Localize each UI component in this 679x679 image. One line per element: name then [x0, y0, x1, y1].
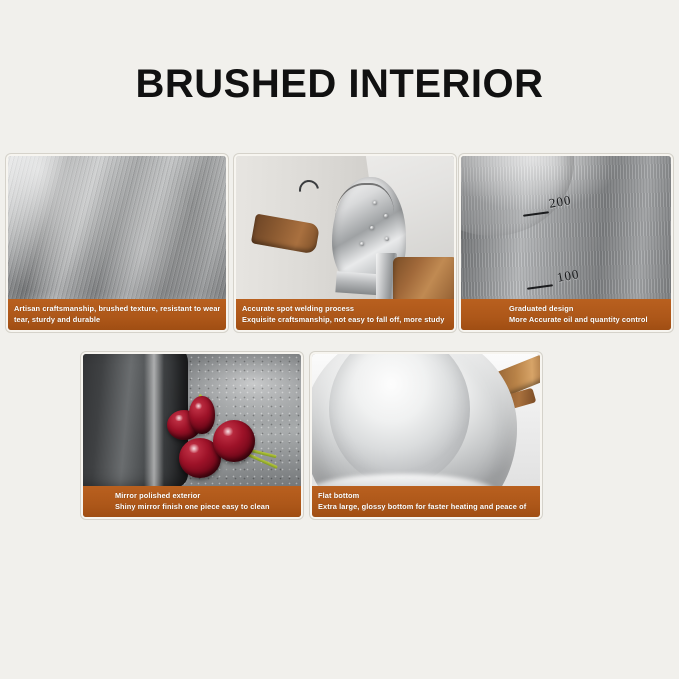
weld-dot: [384, 214, 388, 218]
panel-flat-bottom: Flat bottom Extra large, glossy bottom f…: [310, 352, 542, 519]
caption-line-1: Graduated design: [509, 303, 665, 314]
weld-dot: [360, 242, 364, 246]
caption-line-2: Exquisite craftsmanship, not easy to fal…: [242, 314, 448, 325]
caption-bar-4: Mirror polished exterior Shiny mirror fi…: [83, 486, 301, 517]
panel-spot-welding: Accurate spot welding process Exquisite …: [234, 154, 456, 332]
weld-dot: [385, 237, 389, 241]
caption-line-1: Mirror polished exterior: [115, 490, 295, 501]
panel-graduated-design: 200 100 Graduated design More Accurate o…: [459, 154, 673, 332]
caption-line-2: tear, sturdy and durable: [14, 314, 220, 325]
cherry: [189, 396, 215, 434]
caption-line-1: Accurate spot welding process: [242, 303, 448, 314]
caption-bar-1: Artisan craftsmanship, brushed texture, …: [8, 299, 226, 330]
page-title: BRUSHED INTERIOR: [0, 62, 679, 106]
caption-line-2: Shiny mirror finish one piece easy to cl…: [115, 501, 295, 512]
caption-bar-2: Accurate spot welding process Exquisite …: [236, 299, 454, 330]
cherry: [213, 420, 255, 462]
pot-highlight: [144, 354, 164, 488]
caption-line-1: Flat bottom: [318, 490, 534, 501]
caption-bar-5: Flat bottom Extra large, glossy bottom f…: [312, 486, 540, 517]
panel-mirror-polished-exterior: Mirror polished exterior Shiny mirror fi…: [81, 352, 303, 519]
infographic-page: BRUSHED INTERIOR Artisan craftsmanship, …: [0, 0, 679, 679]
caption-line-2: More Accurate oil and quantity control: [509, 314, 665, 325]
panel-brushed-interior-texture: Artisan craftsmanship, brushed texture, …: [6, 154, 228, 332]
flat-bottom-disc: [329, 354, 470, 486]
caption-line-2: Extra large, glossy bottom for faster he…: [318, 501, 534, 512]
caption-bar-3: Graduated design More Accurate oil and q…: [461, 299, 671, 330]
caption-line-1: Artisan craftsmanship, brushed texture, …: [14, 303, 220, 314]
